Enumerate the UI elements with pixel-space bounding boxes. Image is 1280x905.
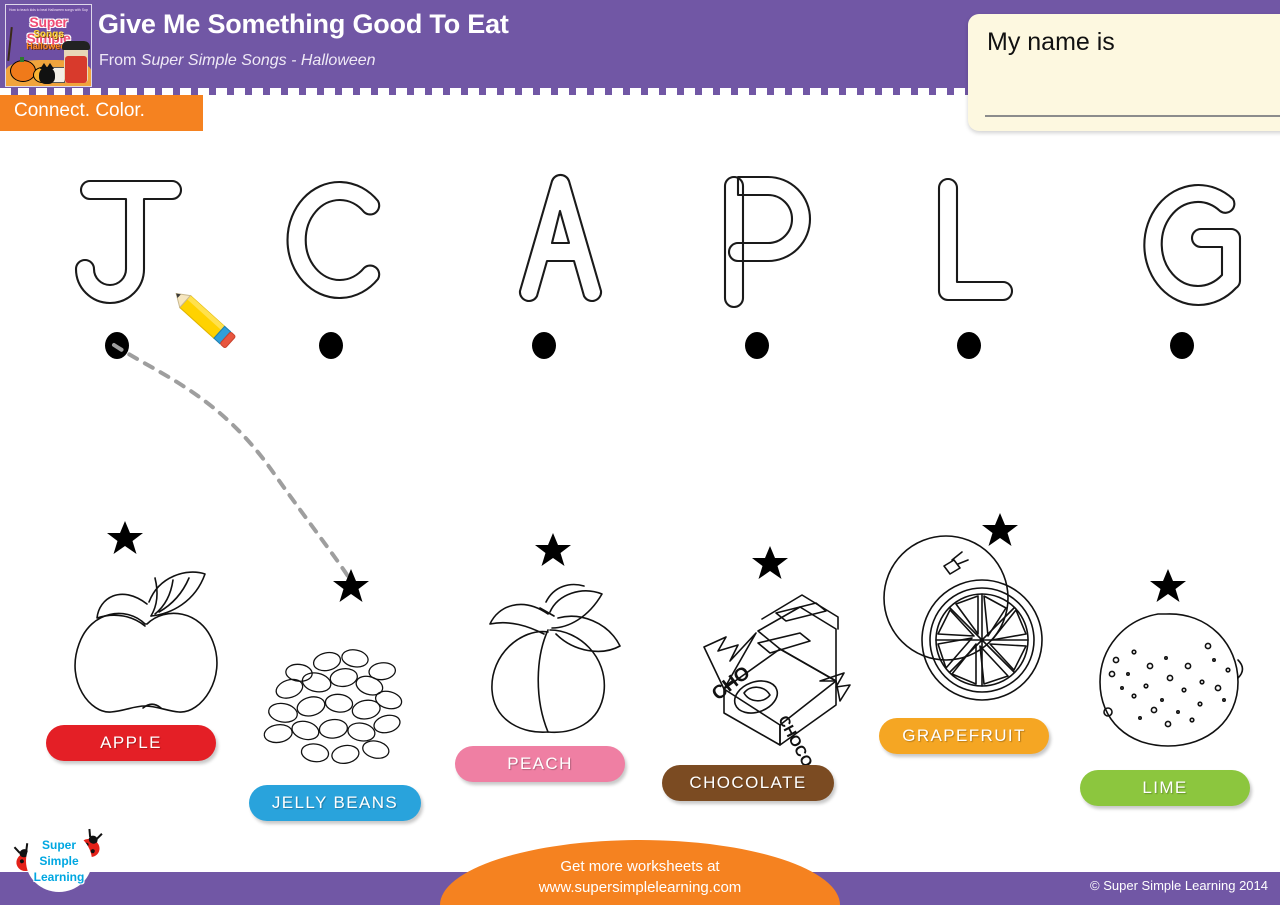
apple-illustration — [55, 560, 240, 720]
album-blurb: How to teach kids to beat Halloween song… — [9, 7, 88, 14]
logo-line-3: Learning — [14, 870, 104, 884]
grapefruit-label-pill: GRAPEFRUIT — [879, 718, 1049, 754]
logo-line-2: Simple — [14, 854, 104, 868]
album-cover-thumbnail: How to teach kids to beat Halloween song… — [5, 4, 92, 87]
promo-line-2: www.supersimplelearning.com — [440, 879, 840, 896]
letter-g — [1133, 165, 1263, 315]
lime-star[interactable] — [1150, 568, 1186, 602]
album-black-cat-icon — [39, 67, 55, 84]
chocolate-label-pill: CHOCOLATE — [662, 765, 834, 801]
jelly-beans-label-pill: JELLY BEANS — [249, 785, 421, 821]
name-label: My name is — [987, 28, 1115, 57]
album-title-line2: Songs — [6, 29, 91, 40]
page-title: Give Me Something Good To Eat — [98, 9, 509, 40]
jelly-beans-star[interactable] — [333, 568, 369, 602]
promo-bubble[interactable]: Get more worksheets at www.supersimplele… — [440, 840, 840, 905]
album-pirate-icon — [64, 41, 88, 83]
promo-line-1: Get more worksheets at — [440, 858, 840, 875]
jelly-beans-illustration — [248, 612, 438, 772]
letter-l — [920, 165, 1050, 315]
letter-p-dot[interactable] — [745, 332, 769, 359]
grapefruit-star[interactable] — [982, 512, 1018, 546]
letter-c — [282, 165, 412, 315]
instruction-tab-label: Connect. Color. — [14, 100, 145, 122]
copyright-text: © Super Simple Learning 2014 — [1090, 878, 1268, 893]
pirate-hat — [62, 41, 90, 50]
chocolate-star[interactable] — [752, 545, 788, 579]
album-pumpkin-icon — [10, 60, 36, 82]
page-subtitle: From Super Simple Songs - Halloween — [99, 52, 376, 70]
letter-p — [708, 165, 838, 315]
instruction-tab: Connect. Color. — [0, 95, 203, 131]
name-write-line[interactable] — [985, 115, 1280, 117]
super-simple-learning-logo: Super Simple Learning — [14, 826, 104, 898]
letter-l-dot[interactable] — [957, 332, 981, 359]
peach-label-text: PEACH — [507, 754, 573, 774]
subtitle-prefix: From — [99, 52, 141, 69]
letter-a — [495, 165, 625, 315]
peach-star[interactable] — [535, 532, 571, 566]
logo-line-1: Super — [14, 838, 104, 852]
pirate-body — [65, 56, 87, 83]
peach-label-pill: PEACH — [455, 746, 625, 782]
apple-label-text: APPLE — [100, 733, 162, 753]
apple-label-pill: APPLE — [46, 725, 216, 761]
letter-g-dot[interactable] — [1170, 332, 1194, 359]
name-field-box[interactable]: My name is — [968, 14, 1280, 131]
peach-illustration — [462, 572, 642, 737]
chocolate-illustration: CHO CHOCO — [660, 585, 845, 750]
grapefruit-illustration — [872, 530, 1057, 710]
grapefruit-label-text: GRAPEFRUIT — [902, 726, 1026, 746]
apple-star[interactable] — [107, 520, 143, 554]
lime-label-pill: LIME — [1080, 770, 1250, 806]
chocolate-label-text: CHOCOLATE — [689, 773, 806, 793]
letter-a-dot[interactable] — [532, 332, 556, 359]
subtitle-source: Super Simple Songs - Halloween — [141, 52, 376, 69]
jelly-beans-label-text: JELLY BEANS — [272, 793, 398, 813]
worksheet-page: How to teach kids to beat Halloween song… — [0, 0, 1280, 905]
lime-illustration — [1088, 600, 1253, 755]
lime-label-text: LIME — [1142, 778, 1187, 798]
